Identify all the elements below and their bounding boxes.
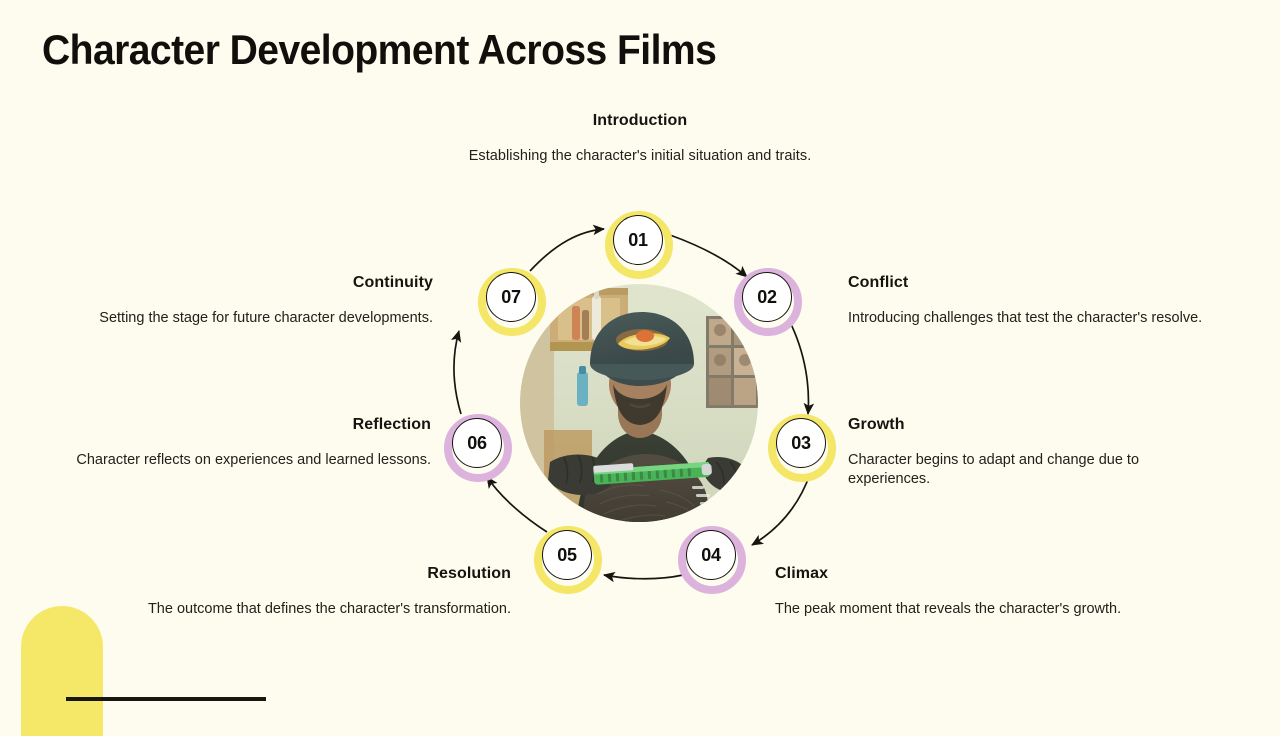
node-disc: 01: [613, 215, 663, 265]
node-number: 01: [628, 231, 647, 249]
step-title: Conflict: [848, 274, 1220, 292]
node-number: 03: [791, 434, 810, 452]
step-description: The peak moment that reveals the charact…: [775, 600, 1147, 619]
step-description: Character begins to adapt and change due…: [848, 451, 1220, 488]
step-title: Climax: [775, 565, 1147, 583]
node-disc: 06: [452, 418, 502, 468]
step-description: The outcome that defines the character's…: [138, 600, 511, 619]
cycle-node-07[interactable]: 07: [486, 272, 538, 324]
cycle-node-02[interactable]: 02: [742, 272, 794, 324]
node-disc: 05: [542, 530, 592, 580]
step-caption-resolution: Resolution The outcome that defines the …: [138, 565, 511, 619]
node-disc: 04: [686, 530, 736, 580]
step-caption-conflict: Conflict Introducing challenges that tes…: [848, 274, 1220, 328]
cycle-node-04[interactable]: 04: [686, 530, 738, 582]
node-number: 06: [467, 434, 486, 452]
node-number: 05: [557, 546, 576, 564]
step-caption-continuity: Continuity Setting the stage for future …: [62, 274, 433, 328]
step-description: Character reflects on experiences and le…: [60, 451, 431, 470]
node-disc: 02: [742, 272, 792, 322]
cycle-node-03[interactable]: 03: [776, 418, 828, 470]
center-photo: [520, 280, 758, 526]
step-caption-growth: Growth Character begins to adapt and cha…: [848, 416, 1220, 488]
cycle-node-06[interactable]: 06: [452, 418, 504, 470]
node-disc: 03: [776, 418, 826, 468]
node-disc: 07: [486, 272, 536, 322]
step-title: Continuity: [62, 274, 433, 292]
cycle-node-01[interactable]: 01: [613, 215, 665, 267]
node-number: 02: [757, 288, 776, 306]
node-number: 07: [501, 288, 520, 306]
step-title: Resolution: [138, 565, 511, 583]
node-number: 04: [701, 546, 720, 564]
step-title: Reflection: [60, 416, 431, 434]
step-caption-climax: Climax The peak moment that reveals the …: [775, 565, 1147, 619]
step-title: Growth: [848, 416, 1220, 434]
step-description: Introducing challenges that test the cha…: [848, 309, 1220, 328]
step-description: Setting the stage for future character d…: [62, 309, 433, 328]
cycle-node-05[interactable]: 05: [542, 530, 594, 582]
step-caption-reflection: Reflection Character reflects on experie…: [60, 416, 431, 470]
